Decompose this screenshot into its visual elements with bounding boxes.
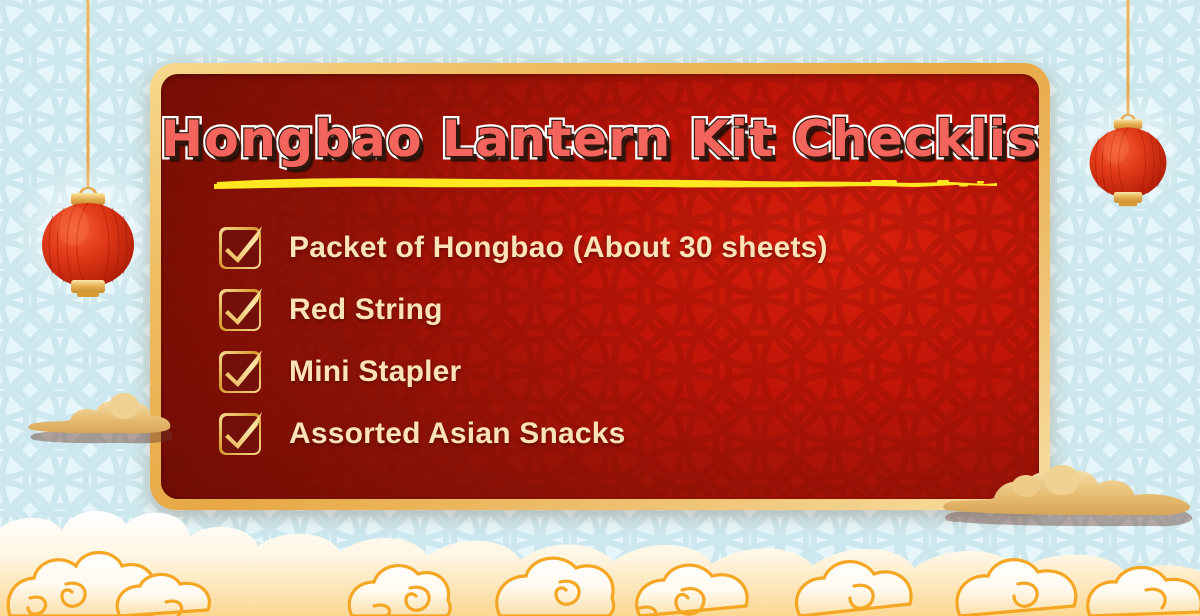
checklist-item-label: Assorted Asian Snacks [289,417,626,451]
checklist-item[interactable]: Packet of Hongbao (About 30 sheets) [219,224,1009,272]
checkmark-icon [215,217,269,271]
checklist-item-label: Mini Stapler [289,355,461,389]
checklist: Packet of Hongbao (About 30 sheets) Red … [219,224,1009,472]
page-title: Hongbao Lantern Kit Checklist [161,110,1039,168]
cloud-bank [0,456,1200,616]
checklist-item[interactable]: Red String [219,286,1009,334]
checkmark-icon [215,341,269,395]
lantern-icon [33,182,143,298]
lantern-cord [87,0,90,188]
card-inner-panel: Hongbao Lantern Kit Checklist Hongbao La… [161,74,1039,499]
lantern-body [1082,110,1174,212]
checkbox-assorted-asian-snacks[interactable] [219,413,261,455]
checklist-item[interactable]: Assorted Asian Snacks [219,410,1009,458]
checkbox-packet-of-hongbao[interactable] [219,227,261,269]
lantern-cord [1127,0,1130,115]
title-underline [211,174,1001,192]
checkbox-red-string[interactable] [219,289,261,331]
gold-cloud-left [24,382,184,459]
cloud-icon [24,382,184,454]
checklist-item-label: Red String [289,293,443,327]
checkmark-icon [215,279,269,333]
brush-stroke-icon [211,174,1001,192]
checkmark-icon [215,403,269,457]
checklist-card: Hongbao Lantern Kit Checklist Hongbao La… [150,63,1050,510]
checkbox-mini-stapler[interactable] [219,351,261,393]
checklist-item-label: Packet of Hongbao (About 30 sheets) [289,231,828,265]
cloud-bank-svg [0,456,1200,616]
card-content: Hongbao Lantern Kit Checklist Hongbao La… [161,74,1039,499]
lantern-icon [1082,110,1174,207]
lantern-body [33,182,143,303]
checklist-item[interactable]: Mini Stapler [219,348,1009,396]
